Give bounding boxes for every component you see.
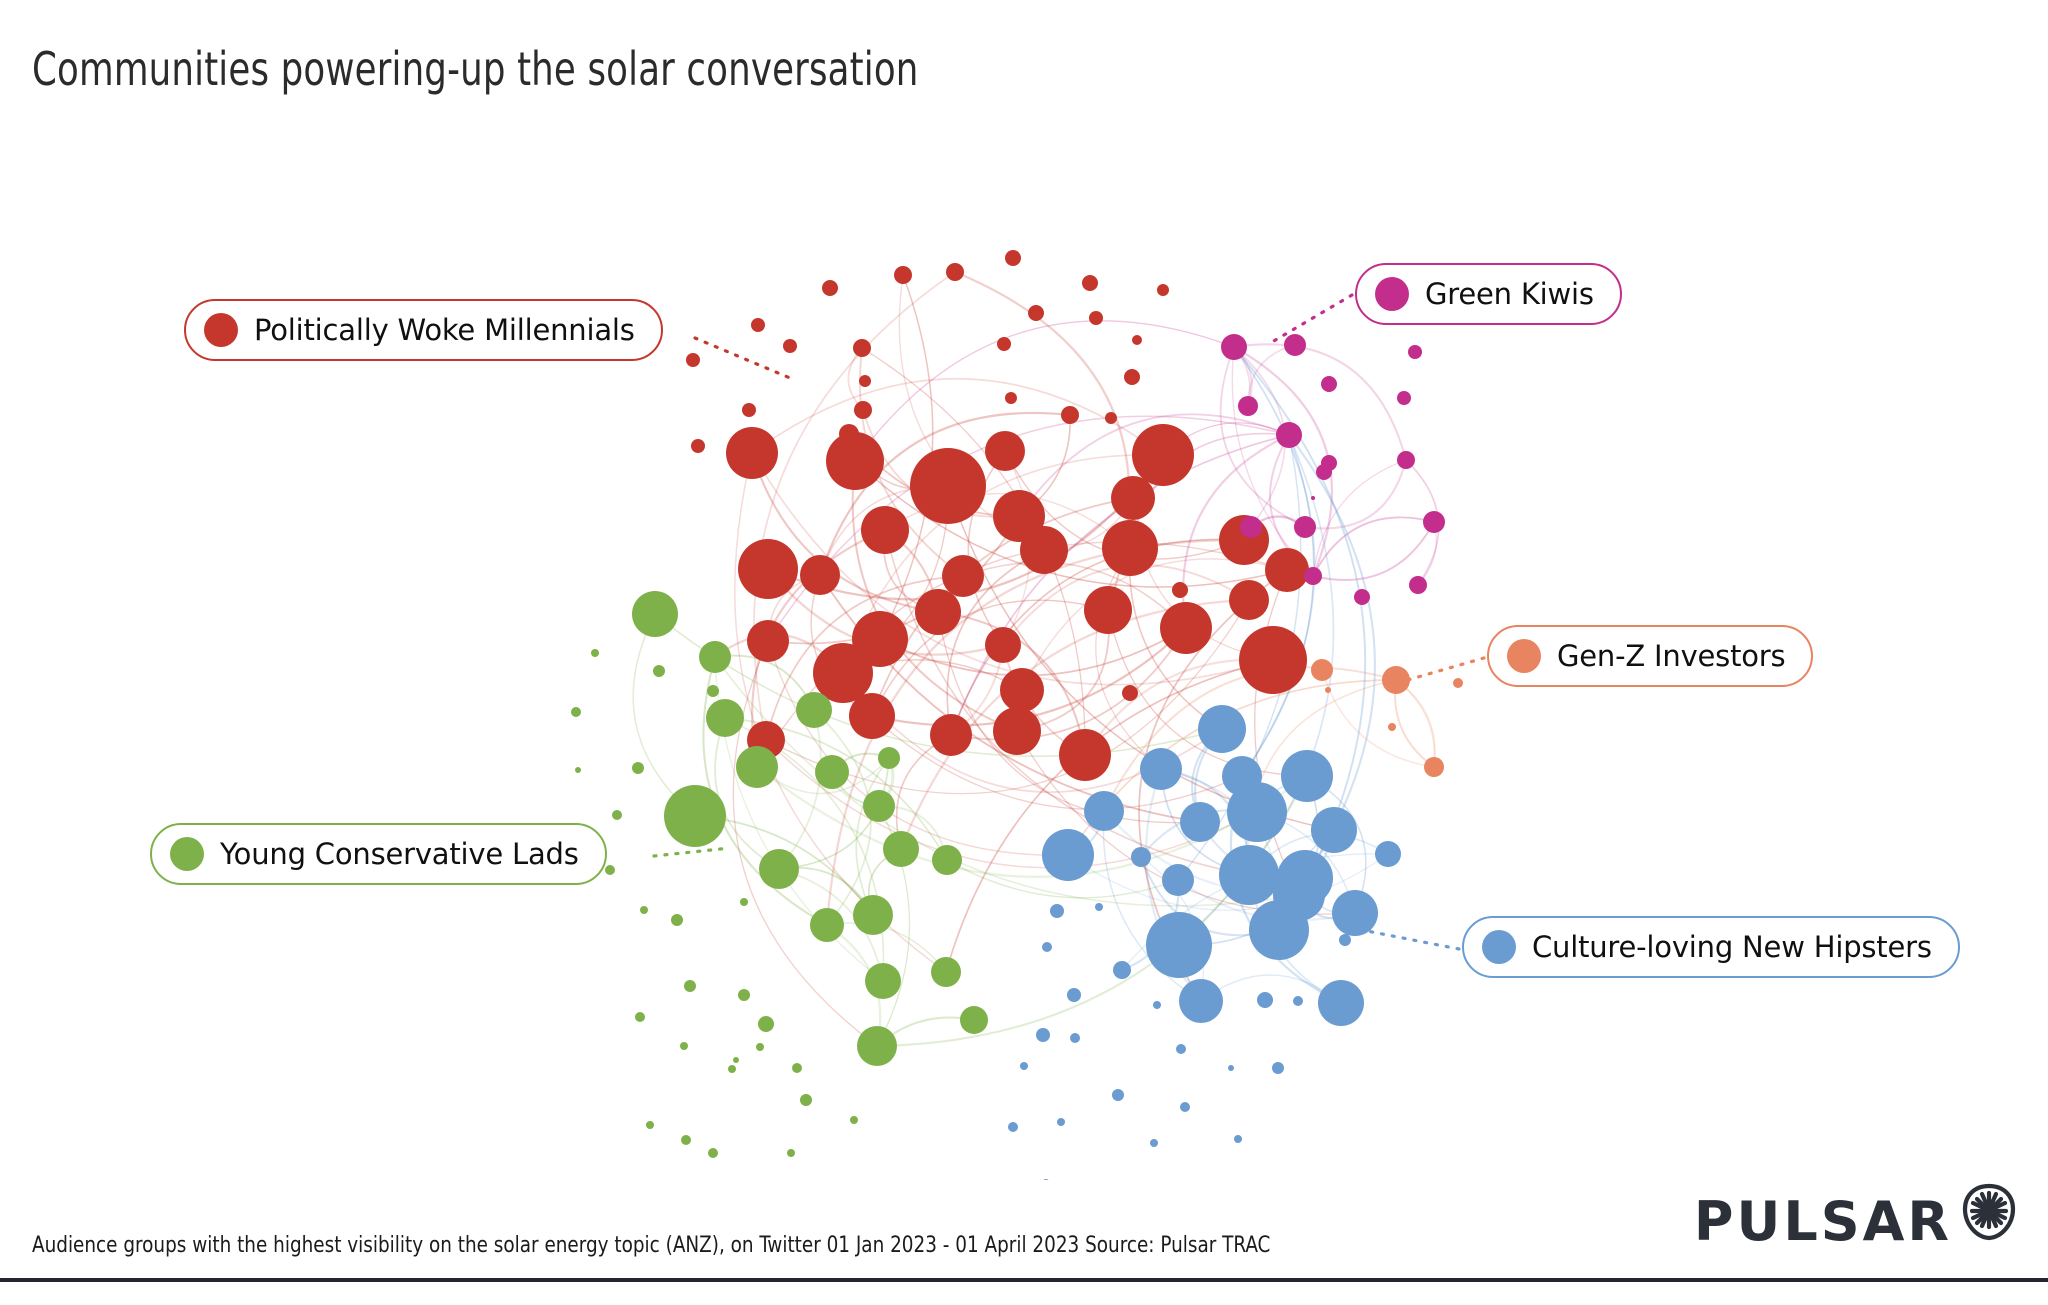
network-node[interactable] bbox=[646, 1121, 654, 1129]
network-node[interactable] bbox=[591, 649, 599, 657]
network-edge bbox=[752, 379, 1163, 455]
network-node[interactable] bbox=[894, 266, 912, 284]
network-node[interactable] bbox=[1153, 1001, 1161, 1009]
network-node[interactable] bbox=[1042, 829, 1094, 881]
network-node[interactable] bbox=[707, 685, 719, 697]
network-node[interactable] bbox=[1397, 391, 1411, 405]
network-node[interactable] bbox=[1221, 334, 1247, 360]
network-node[interactable] bbox=[985, 627, 1021, 663]
network-node[interactable] bbox=[993, 707, 1041, 755]
network-edge bbox=[1255, 570, 1299, 895]
network-node[interactable] bbox=[826, 432, 884, 490]
network-node[interactable] bbox=[1140, 748, 1182, 790]
network-node[interactable] bbox=[783, 339, 797, 353]
network-node[interactable] bbox=[706, 699, 744, 737]
legend-item-young-conservative-lads[interactable]: Young Conservative Lads bbox=[150, 823, 607, 885]
network-edge bbox=[1313, 522, 1434, 580]
network-node[interactable] bbox=[863, 790, 895, 822]
network-node[interactable] bbox=[1084, 586, 1132, 634]
network-node[interactable] bbox=[800, 1094, 812, 1106]
network-node[interactable] bbox=[1089, 311, 1103, 325]
network-node[interactable] bbox=[878, 747, 900, 769]
network-node[interactable] bbox=[1160, 602, 1212, 654]
network-node[interactable] bbox=[1228, 1065, 1234, 1071]
network-node[interactable] bbox=[1409, 576, 1427, 594]
network-node[interactable] bbox=[815, 755, 849, 789]
network-node[interactable] bbox=[1284, 334, 1306, 356]
network-node[interactable] bbox=[796, 692, 832, 728]
network-node[interactable] bbox=[1172, 582, 1188, 598]
network-node[interactable] bbox=[747, 620, 789, 662]
network-node[interactable] bbox=[1057, 1118, 1065, 1126]
network-node[interactable] bbox=[733, 1057, 739, 1063]
network-node[interactable] bbox=[1095, 903, 1103, 911]
network-node[interactable] bbox=[1005, 250, 1021, 266]
network-node[interactable] bbox=[1020, 526, 1068, 574]
network-node[interactable] bbox=[664, 785, 726, 847]
network-node[interactable] bbox=[1179, 979, 1223, 1023]
pulsar-logo: PULSAR bbox=[1694, 1188, 2020, 1256]
network-node[interactable] bbox=[686, 353, 700, 367]
network-node[interactable] bbox=[853, 895, 893, 935]
legend-color-swatch-magenta bbox=[1375, 277, 1409, 311]
network-node[interactable] bbox=[1061, 406, 1079, 424]
network-node[interactable] bbox=[1162, 864, 1194, 896]
legend-color-swatch-blue bbox=[1482, 930, 1516, 964]
legend-label-magenta: Green Kiwis bbox=[1425, 277, 1594, 311]
network-node[interactable] bbox=[1180, 1102, 1190, 1112]
network-node[interactable] bbox=[865, 963, 901, 999]
network-node[interactable] bbox=[1339, 934, 1351, 946]
network-node[interactable] bbox=[1111, 476, 1155, 520]
network-node[interactable] bbox=[787, 1149, 795, 1157]
leader-line-green bbox=[654, 848, 730, 856]
network-node[interactable] bbox=[684, 980, 696, 992]
network-node[interactable] bbox=[612, 810, 622, 820]
network-node[interactable] bbox=[1321, 376, 1337, 392]
network-node[interactable] bbox=[738, 989, 750, 1001]
network-node[interactable] bbox=[1332, 890, 1378, 936]
network-node[interactable] bbox=[1240, 516, 1262, 538]
network-node[interactable] bbox=[1219, 845, 1279, 905]
network-node[interactable] bbox=[857, 1026, 897, 1066]
network-node[interactable] bbox=[1281, 750, 1333, 802]
legend-item-green-kiwis[interactable]: Green Kiwis bbox=[1355, 263, 1622, 325]
network-node[interactable] bbox=[930, 714, 972, 756]
network-node[interactable] bbox=[1020, 1062, 1028, 1070]
leader-line-coral bbox=[1404, 658, 1484, 681]
network-node[interactable] bbox=[1388, 723, 1396, 731]
network-node[interactable] bbox=[1112, 1089, 1124, 1101]
network-node[interactable] bbox=[1180, 802, 1220, 842]
legend-label-blue: Culture-loving New Hipsters bbox=[1532, 930, 1932, 964]
network-node[interactable] bbox=[1325, 1007, 1335, 1017]
network-node[interactable] bbox=[910, 448, 986, 524]
network-node[interactable] bbox=[1276, 422, 1302, 448]
network-node[interactable] bbox=[1059, 729, 1111, 781]
network-node[interactable] bbox=[1424, 757, 1444, 777]
network-node[interactable] bbox=[635, 1012, 645, 1022]
network-node[interactable] bbox=[1265, 548, 1309, 592]
network-edge bbox=[872, 716, 1242, 809]
leader-line-blue bbox=[1362, 930, 1459, 949]
network-node[interactable] bbox=[726, 427, 778, 479]
network-node[interactable] bbox=[1000, 668, 1044, 712]
network-node[interactable] bbox=[759, 849, 799, 889]
network-node[interactable] bbox=[738, 539, 798, 599]
legend-label-coral: Gen-Z Investors bbox=[1557, 639, 1785, 673]
network-node[interactable] bbox=[1036, 1028, 1050, 1042]
network-edge bbox=[963, 562, 1186, 628]
network-edge bbox=[1248, 345, 1295, 406]
legend-item-politically-woke-millennials[interactable]: Politically Woke Millennials bbox=[184, 299, 663, 361]
network-node[interactable] bbox=[632, 762, 644, 774]
network-node[interactable] bbox=[800, 555, 840, 595]
network-node[interactable] bbox=[680, 1042, 688, 1050]
network-node[interactable] bbox=[1423, 511, 1445, 533]
network-node[interactable] bbox=[1325, 687, 1331, 693]
network-node[interactable] bbox=[1082, 275, 1098, 291]
network-node[interactable] bbox=[632, 591, 678, 637]
network-node[interactable] bbox=[861, 506, 909, 554]
network-node[interactable] bbox=[853, 339, 871, 357]
network-node[interactable] bbox=[1397, 451, 1415, 469]
network-node[interactable] bbox=[1028, 305, 1044, 321]
network-node[interactable] bbox=[575, 767, 581, 773]
network-node[interactable] bbox=[699, 641, 731, 673]
network-node[interactable] bbox=[742, 403, 756, 417]
network-node[interactable] bbox=[883, 831, 919, 867]
network-edge bbox=[1313, 517, 1434, 576]
network-node[interactable] bbox=[1124, 369, 1140, 385]
network-node[interactable] bbox=[751, 318, 765, 332]
legend-item-gen-z-investors[interactable]: Gen-Z Investors bbox=[1487, 625, 1813, 687]
network-node[interactable] bbox=[1132, 335, 1142, 345]
network-node[interactable] bbox=[942, 555, 984, 597]
legend-item-culture-loving-new-hipsters[interactable]: Culture-loving New Hipsters bbox=[1462, 916, 1960, 978]
network-node[interactable] bbox=[1102, 520, 1158, 576]
network-node[interactable] bbox=[1042, 942, 1052, 952]
network-node[interactable] bbox=[1354, 589, 1370, 605]
network-node[interactable] bbox=[960, 1006, 988, 1034]
network-node[interactable] bbox=[758, 1016, 774, 1032]
network-node[interactable] bbox=[681, 1135, 691, 1145]
network-node[interactable] bbox=[756, 1043, 764, 1051]
network-node[interactable] bbox=[792, 1063, 802, 1073]
network-node[interactable] bbox=[810, 908, 844, 942]
network-node[interactable] bbox=[1294, 516, 1316, 538]
network-node[interactable] bbox=[985, 431, 1025, 471]
network-node[interactable] bbox=[915, 589, 961, 635]
network-node[interactable] bbox=[1146, 912, 1212, 978]
network-node[interactable] bbox=[728, 1065, 736, 1073]
leader-line-red bbox=[695, 338, 790, 378]
network-node[interactable] bbox=[931, 957, 961, 987]
network-node[interactable] bbox=[1132, 424, 1194, 486]
network-node[interactable] bbox=[1005, 392, 1017, 404]
network-node[interactable] bbox=[1122, 685, 1138, 701]
network-node[interactable] bbox=[571, 707, 581, 717]
network-node[interactable] bbox=[1272, 1062, 1284, 1074]
legend-label-green: Young Conservative Lads bbox=[220, 837, 579, 871]
network-node[interactable] bbox=[1238, 396, 1258, 416]
network-node[interactable] bbox=[1198, 705, 1246, 753]
pulsar-wordmark: PULSAR bbox=[1694, 1195, 1952, 1249]
network-node[interactable] bbox=[849, 693, 895, 739]
legend-label-red: Politically Woke Millennials bbox=[254, 313, 635, 347]
network-edge bbox=[1396, 680, 1435, 767]
network-node[interactable] bbox=[1375, 841, 1401, 867]
network-node[interactable] bbox=[932, 845, 962, 875]
legend-color-swatch-red bbox=[204, 313, 238, 347]
network-node[interactable] bbox=[671, 914, 683, 926]
network-node[interactable] bbox=[946, 263, 964, 281]
leader-line-magenta bbox=[1272, 295, 1352, 342]
network-node[interactable] bbox=[1382, 666, 1410, 694]
network-node[interactable] bbox=[822, 280, 838, 296]
network-node[interactable] bbox=[1084, 791, 1124, 831]
legend-color-swatch-coral bbox=[1507, 639, 1541, 673]
network-node[interactable] bbox=[691, 439, 705, 453]
legend-color-swatch-green bbox=[170, 837, 204, 871]
network-node[interactable] bbox=[1042, 1179, 1050, 1180]
network-node[interactable] bbox=[1234, 1135, 1242, 1143]
network-node[interactable] bbox=[1105, 412, 1117, 424]
pulsar-starburst-icon bbox=[1958, 1181, 2020, 1243]
network-node[interactable] bbox=[854, 401, 872, 419]
network-edge bbox=[633, 614, 695, 816]
network-node[interactable] bbox=[997, 337, 1011, 351]
network-node[interactable] bbox=[1227, 782, 1287, 842]
network-node[interactable] bbox=[1050, 904, 1064, 918]
network-node[interactable] bbox=[1229, 580, 1269, 620]
network-node[interactable] bbox=[1113, 961, 1131, 979]
network-node[interactable] bbox=[1318, 980, 1364, 1026]
network-node[interactable] bbox=[740, 898, 748, 906]
network-svg bbox=[0, 0, 2048, 1180]
network-node[interactable] bbox=[1311, 496, 1315, 500]
network-node[interactable] bbox=[850, 1116, 858, 1124]
network-node[interactable] bbox=[1249, 900, 1309, 960]
network-node[interactable] bbox=[1257, 992, 1273, 1008]
network-node[interactable] bbox=[708, 1148, 718, 1158]
network-node[interactable] bbox=[1311, 659, 1333, 681]
footer-caption: Audience groups with the highest visibil… bbox=[32, 1233, 1270, 1258]
footer-divider bbox=[0, 1278, 2048, 1282]
network-graph bbox=[0, 0, 2048, 1180]
network-node[interactable] bbox=[1157, 284, 1169, 296]
network-node[interactable] bbox=[1239, 626, 1307, 694]
network-node[interactable] bbox=[653, 665, 665, 677]
network-node[interactable] bbox=[1311, 807, 1357, 853]
network-node[interactable] bbox=[640, 906, 648, 914]
network-node[interactable] bbox=[1408, 345, 1422, 359]
network-node[interactable] bbox=[1176, 1044, 1186, 1054]
network-node[interactable] bbox=[736, 746, 778, 788]
network-node[interactable] bbox=[859, 375, 871, 387]
network-node[interactable] bbox=[1008, 1122, 1018, 1132]
network-node[interactable] bbox=[1067, 988, 1081, 1002]
network-node[interactable] bbox=[1304, 567, 1322, 585]
network-node[interactable] bbox=[1070, 1033, 1080, 1043]
network-node[interactable] bbox=[1131, 847, 1151, 867]
network-node[interactable] bbox=[605, 865, 615, 875]
edge-layer bbox=[633, 272, 1438, 1046]
network-node[interactable] bbox=[1293, 996, 1303, 1006]
network-node[interactable] bbox=[1150, 1139, 1158, 1147]
network-node[interactable] bbox=[1453, 678, 1463, 688]
network-node[interactable] bbox=[1316, 464, 1332, 480]
